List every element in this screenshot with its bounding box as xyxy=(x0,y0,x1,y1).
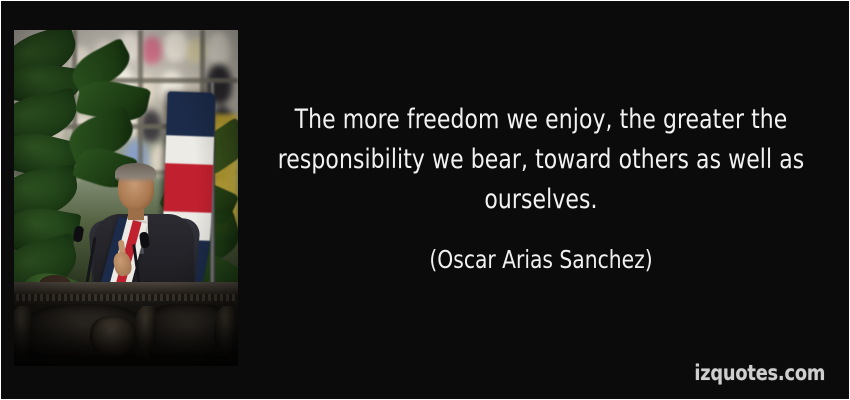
site-watermark: izquotes.com xyxy=(694,361,825,385)
quote-body: The more freedom we enjoy, the greater t… xyxy=(272,100,809,220)
photo-vignette xyxy=(14,30,238,366)
quote-card: The more freedom we enjoy, the greater t… xyxy=(0,0,850,400)
speaker-photo xyxy=(14,30,238,366)
quote-author: (Oscar Arias Sanchez) xyxy=(272,244,809,276)
quote-text-area: The more freedom we enjoy, the greater t… xyxy=(249,1,849,399)
